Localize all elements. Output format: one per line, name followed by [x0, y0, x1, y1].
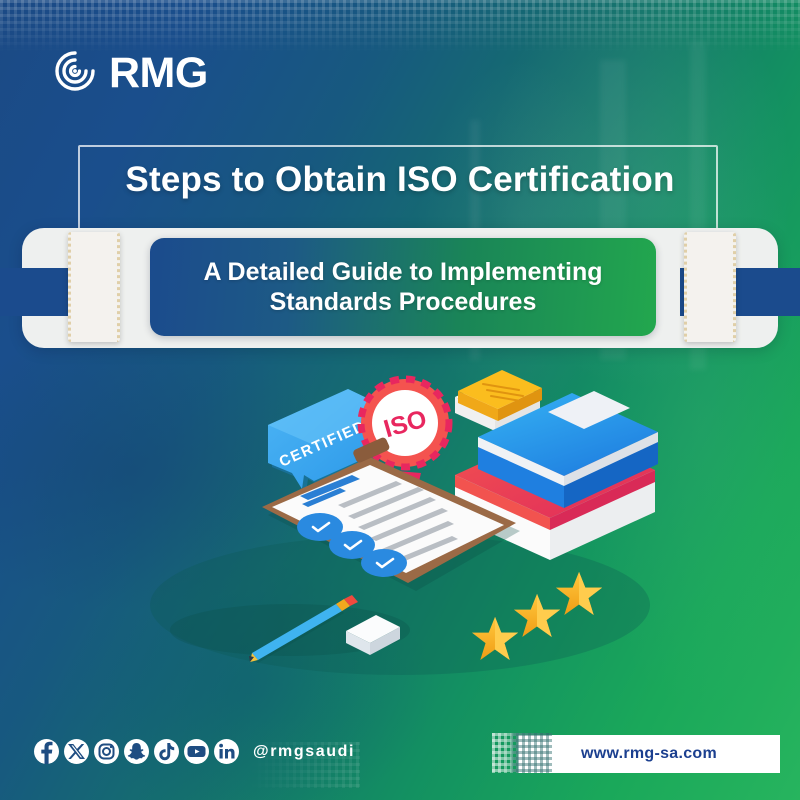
- x-twitter-icon[interactable]: [64, 739, 89, 764]
- page-title: Steps to Obtain ISO Certification: [60, 160, 740, 200]
- paper-clip-left: [68, 232, 120, 342]
- iso-illustration: CERTIFIED ISO: [0, 355, 800, 685]
- subtitle-line-2: Standards Procedures: [270, 288, 537, 316]
- rmg-spiral-logo-icon: [52, 48, 98, 99]
- brand-logo[interactable]: RMG: [52, 48, 208, 99]
- subtitle-box: A Detailed Guide to Implementing Standar…: [150, 238, 656, 336]
- facebook-icon[interactable]: [34, 739, 59, 764]
- youtube-icon[interactable]: [184, 739, 209, 764]
- top-dot-grid-pattern: [0, 0, 800, 52]
- snapchat-icon[interactable]: [124, 739, 149, 764]
- website-button[interactable]: www.rmg-sa.com: [518, 735, 780, 773]
- social-links-row: @rmgsaudi: [34, 739, 355, 764]
- subtitle-text: A Detailed Guide to Implementing Standar…: [185, 257, 620, 318]
- website-url: www.rmg-sa.com: [581, 745, 717, 763]
- poster-canvas: RMG Steps to Obtain ISO Certification A …: [0, 0, 800, 800]
- subtitle-line-1: A Detailed Guide to Implementing: [203, 258, 602, 286]
- social-handle: @rmgsaudi: [253, 743, 355, 761]
- brand-wordmark: RMG: [109, 52, 208, 95]
- instagram-icon[interactable]: [94, 739, 119, 764]
- linkedin-icon[interactable]: [214, 739, 239, 764]
- paper-clip-right: [684, 232, 736, 342]
- tiktok-icon[interactable]: [154, 739, 179, 764]
